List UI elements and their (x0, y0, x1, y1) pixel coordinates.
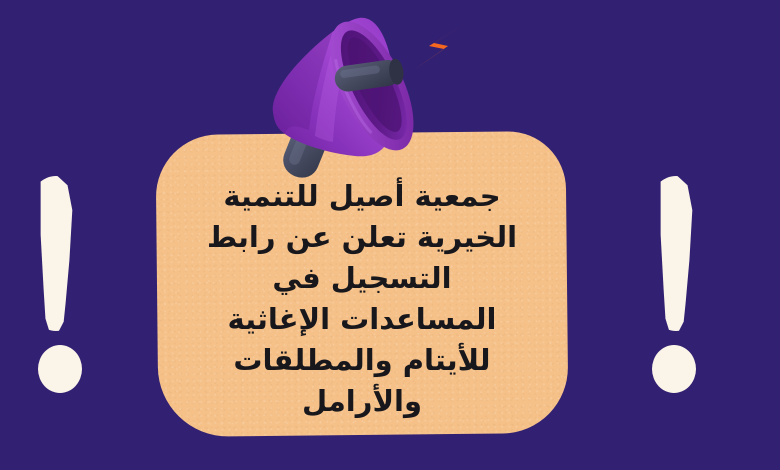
exclamation-dot (652, 345, 696, 393)
exclamation-dot (38, 345, 82, 393)
announcement-poster: جمعية أصيل للتنمية الخيرية تعلن عن رابط … (0, 0, 780, 470)
announcement-headline: جمعية أصيل للتنمية الخيرية تعلن عن رابط … (157, 176, 567, 422)
lightning-bolt-icon (408, 16, 470, 78)
